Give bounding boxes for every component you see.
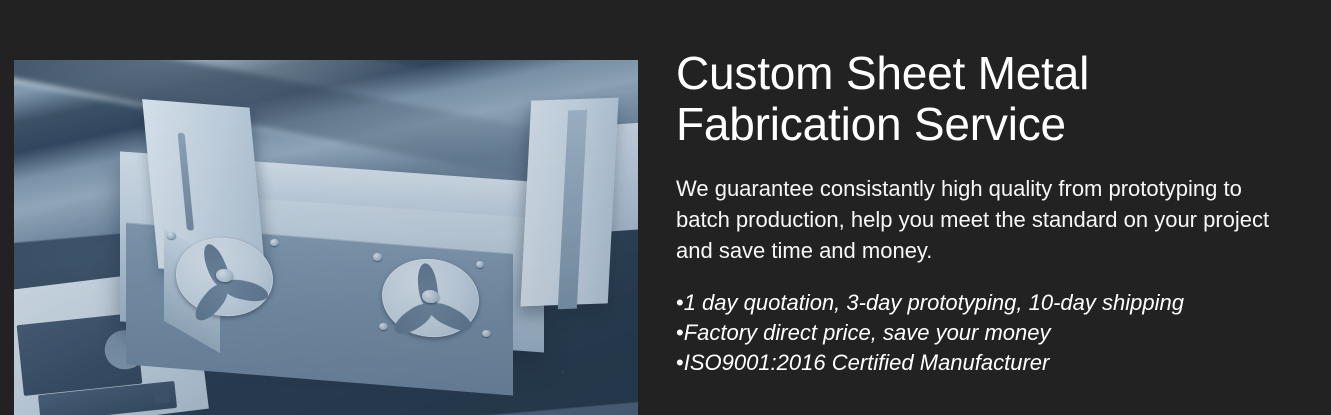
promo-banner: Custom Sheet Metal Fabrication Service W… <box>0 0 1331 415</box>
list-item: •ISO9001:2016 Certified Manufacturer <box>676 348 1288 378</box>
product-photo <box>14 60 638 415</box>
photo-blue-tint <box>14 60 638 415</box>
photo-inner <box>14 60 638 415</box>
list-item-label: 1 day quotation, 3-day prototyping, 10-d… <box>684 290 1184 315</box>
page-title: Custom Sheet Metal Fabrication Service <box>676 48 1288 150</box>
bullet-marker-icon: • <box>676 350 684 375</box>
list-item-label: ISO9001:2016 Certified Manufacturer <box>684 350 1050 375</box>
promo-content: Custom Sheet Metal Fabrication Service W… <box>676 48 1288 378</box>
bullet-marker-icon: • <box>676 290 684 315</box>
lead-paragraph: We guarantee consistantly high quality f… <box>676 173 1288 266</box>
bullet-marker-icon: • <box>676 320 684 345</box>
list-item: •1 day quotation, 3-day prototyping, 10-… <box>676 288 1288 318</box>
feature-list: •1 day quotation, 3-day prototyping, 10-… <box>676 288 1288 378</box>
list-item: •Factory direct price, save your money <box>676 318 1288 348</box>
list-item-label: Factory direct price, save your money <box>684 320 1051 345</box>
